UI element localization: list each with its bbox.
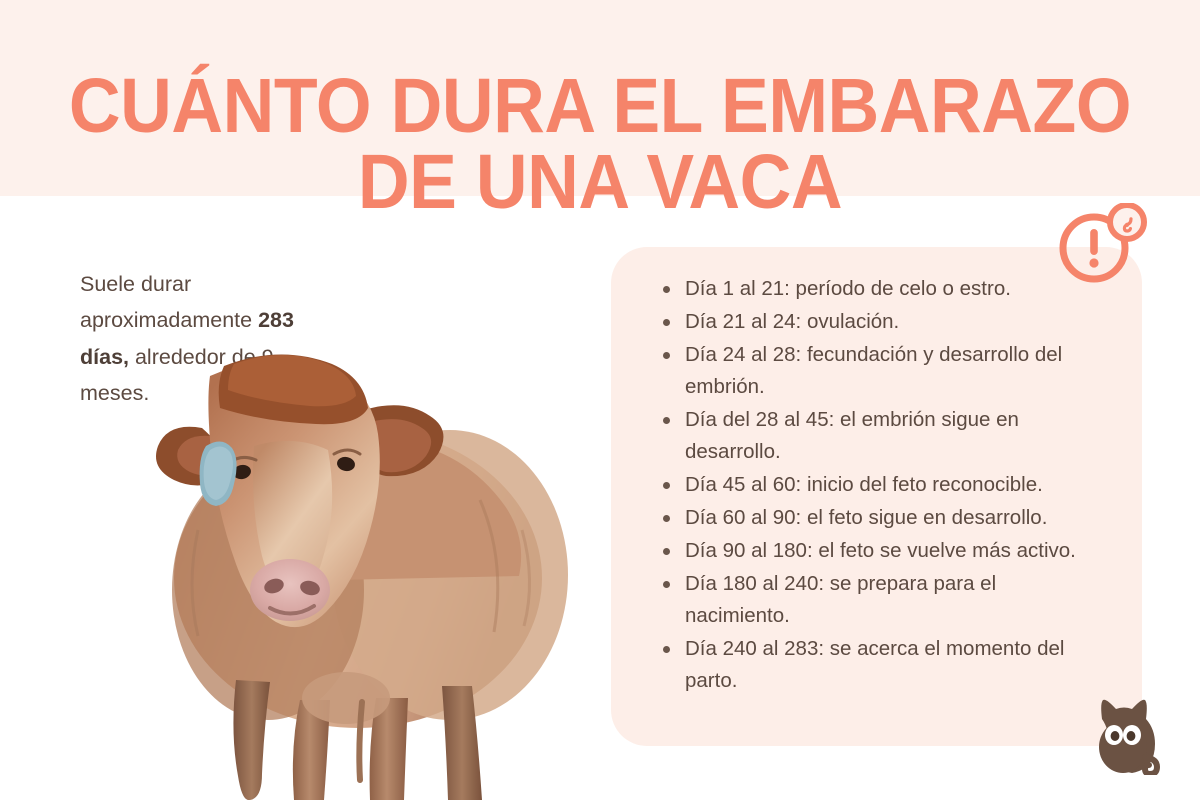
list-item-label: Día 90 al 180: el feto se vuelve más act… xyxy=(685,539,1076,562)
list-item: Día 240 al 283: se acerca el momento del… xyxy=(663,633,1103,697)
list-item-label: Día 24 al 28: fecundación y desarrollo d… xyxy=(685,343,1062,398)
infographic-page: CUÁNTO DURA EL EMBARAZO DE UNA VACA Suel… xyxy=(0,0,1200,800)
intro-text-part-1: Suele durar aproximadamente xyxy=(80,272,258,333)
list-item: Día 60 al 90: el feto sigue en desarroll… xyxy=(663,502,1103,534)
stages-panel: Día 1 al 21: período de celo o estro. Dí… xyxy=(611,247,1142,746)
list-item-label: Día 180 al 240: se prepara para el nacim… xyxy=(685,572,996,627)
list-item-label: Día 45 al 60: inicio del feto reconocibl… xyxy=(685,473,1043,496)
list-item-label: Día 1 al 21: período de celo o estro. xyxy=(685,277,1011,300)
bullet-dot-icon xyxy=(663,319,670,326)
bullet-dot-icon xyxy=(663,286,670,293)
list-item-label: Día 21 al 24: ovulación. xyxy=(685,310,899,333)
stages-list: Día 1 al 21: período de celo o estro. Dí… xyxy=(663,273,1103,698)
cow-photo xyxy=(150,350,580,800)
cat-silhouette-icon xyxy=(1082,697,1164,775)
list-item: Día del 28 al 45: el embrión sigue en de… xyxy=(663,404,1103,468)
exclamation-question-badge-icon xyxy=(1056,203,1148,285)
bullet-dot-icon xyxy=(663,581,670,588)
bullet-dot-icon xyxy=(663,482,670,489)
bullet-dot-icon xyxy=(663,417,670,424)
bullet-dot-icon xyxy=(663,352,670,359)
list-item-label: Día del 28 al 45: el embrión sigue en de… xyxy=(685,408,1019,463)
page-title: CUÁNTO DURA EL EMBARAZO DE UNA VACA xyxy=(42,68,1158,220)
list-item: Día 21 al 24: ovulación. xyxy=(663,306,1103,338)
list-item: Día 24 al 28: fecundación y desarrollo d… xyxy=(663,339,1103,403)
bullet-dot-icon xyxy=(663,515,670,522)
list-item: Día 90 al 180: el feto se vuelve más act… xyxy=(663,535,1103,567)
list-item: Día 45 al 60: inicio del feto reconocibl… xyxy=(663,469,1103,501)
bullet-dot-icon xyxy=(663,646,670,653)
bullet-dot-icon xyxy=(663,548,670,555)
list-item: Día 1 al 21: período de celo o estro. xyxy=(663,273,1103,305)
list-item-label: Día 240 al 283: se acerca el momento del… xyxy=(685,637,1064,692)
list-item-label: Día 60 al 90: el feto sigue en desarroll… xyxy=(685,506,1047,529)
list-item: Día 180 al 240: se prepara para el nacim… xyxy=(663,568,1103,632)
header-band: CUÁNTO DURA EL EMBARAZO DE UNA VACA xyxy=(0,0,1200,196)
